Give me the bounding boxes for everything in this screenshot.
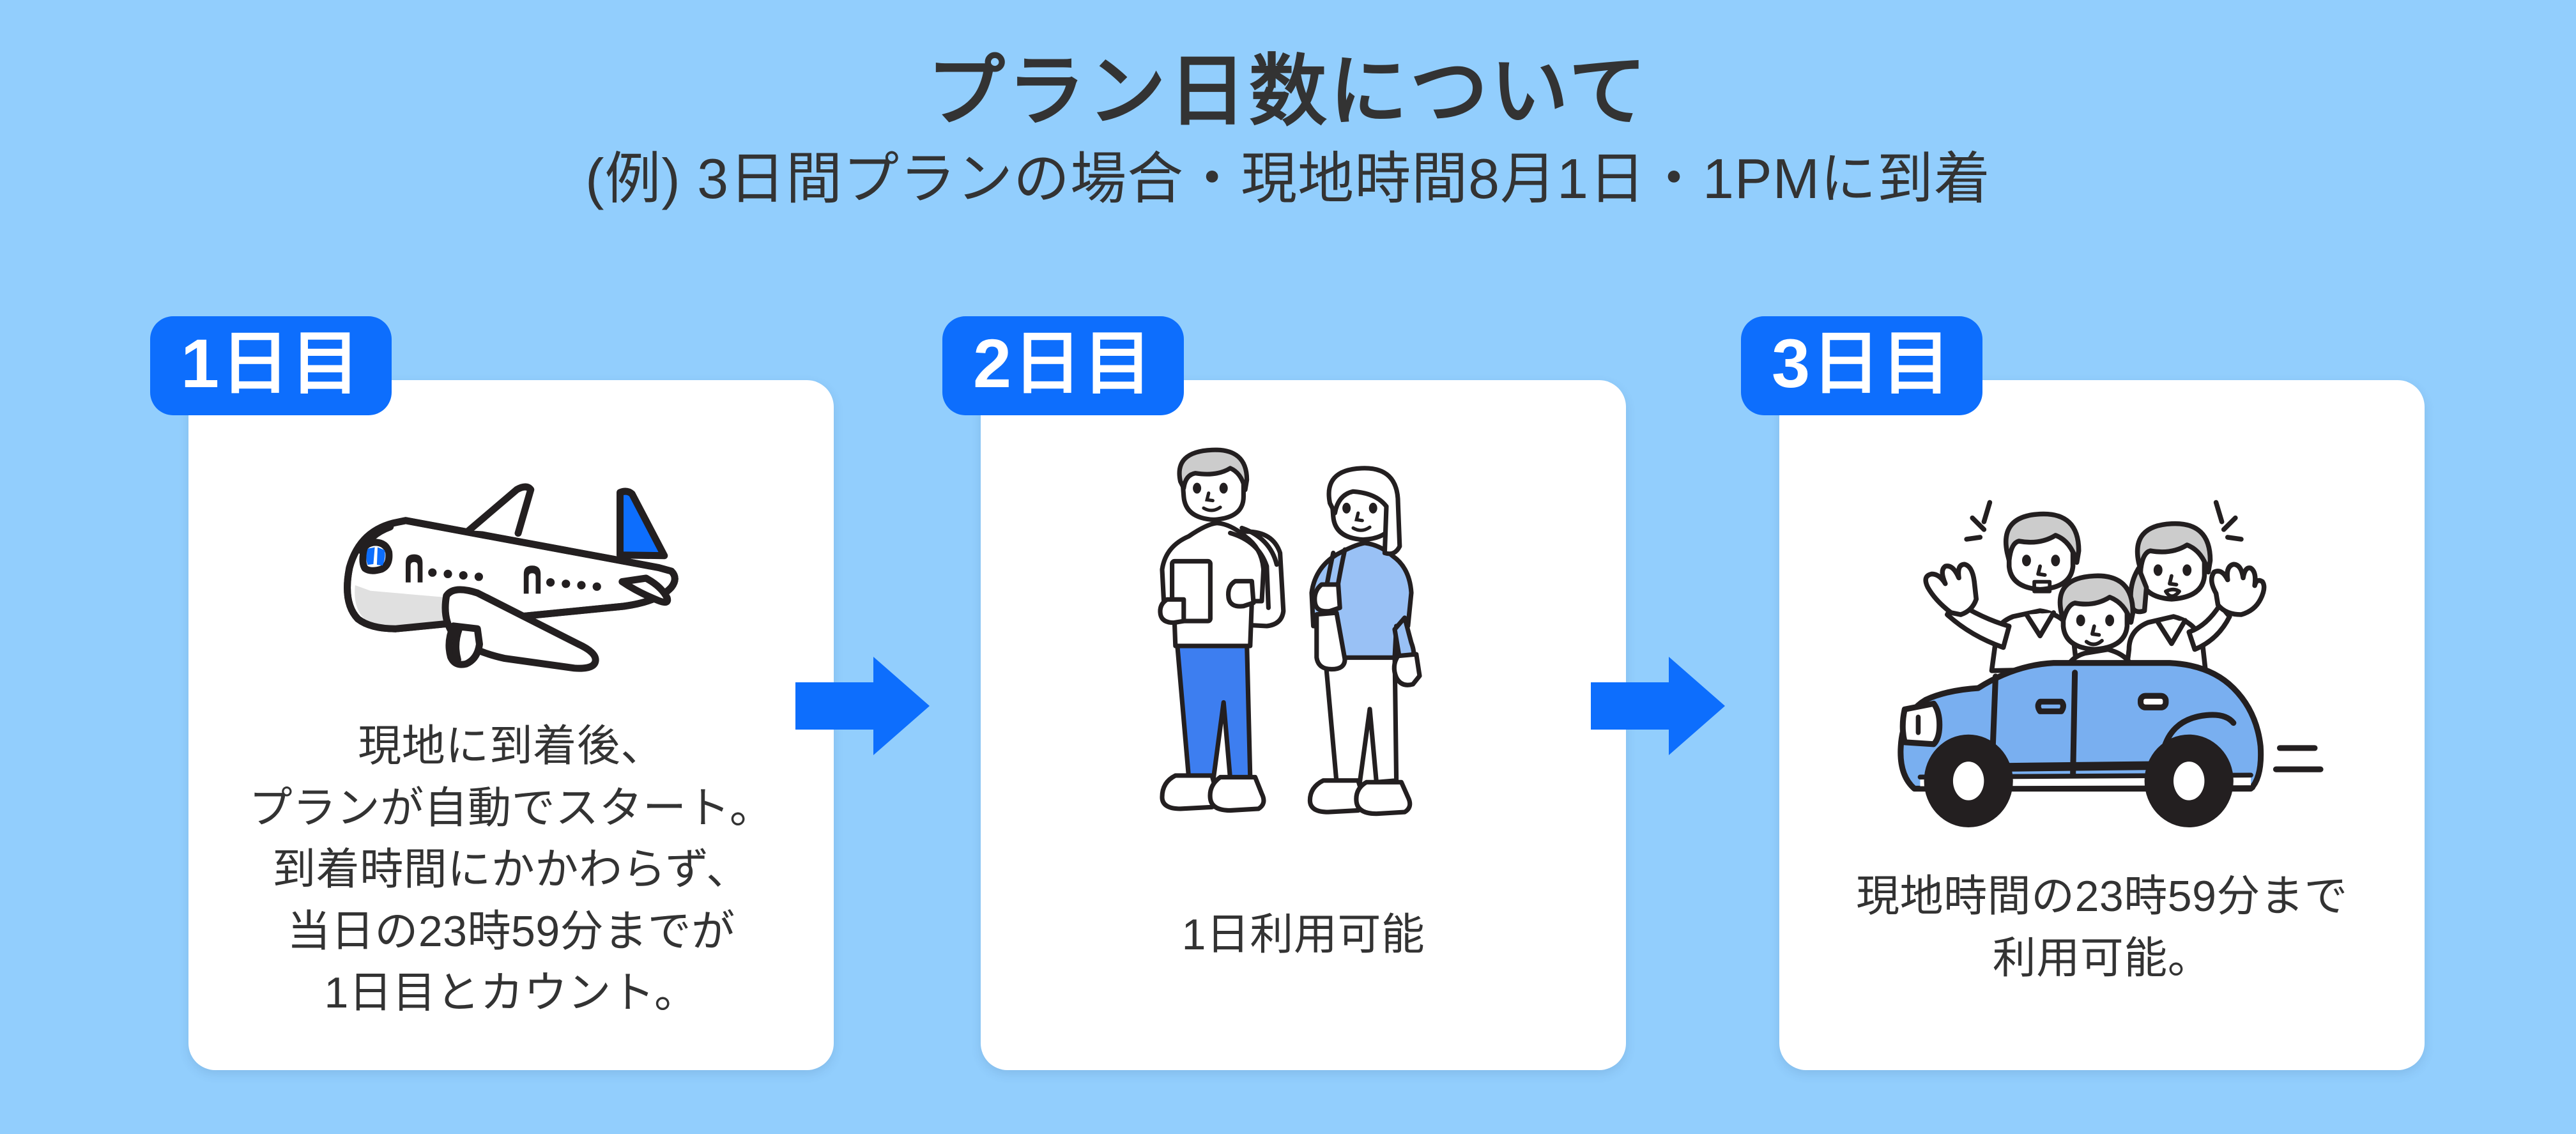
airplane-illustration <box>188 457 834 700</box>
day-3-body-line: 現地時間の23時59分まで <box>1779 866 2425 928</box>
day-1-body-line: 到着時間にかかわらず、 <box>188 839 834 901</box>
airplane-icon <box>262 473 760 684</box>
step-day-2: 1日利用可能 2日目 <box>981 380 1626 1070</box>
family-car-illustration <box>1779 457 2425 840</box>
arrow-right-icon <box>795 652 930 760</box>
page-title: プラン日数について <box>0 0 2576 134</box>
day-2-body: 1日利用可能 <box>981 904 1626 966</box>
day-1-badge: 1日目 <box>150 316 392 415</box>
arrow-step2-to-step3 <box>1591 652 1725 760</box>
day-3-card: 現地時間の23時59分まで 利用可能。 <box>1779 380 2425 1070</box>
arrow-step1-to-step2 <box>795 652 930 760</box>
family-car-icon <box>1850 470 2354 827</box>
day-3-body-line: 利用可能。 <box>1779 928 2425 990</box>
steps-row: 現地に到着後、 プランが自動でスタート。 到着時間にかかわらず、 当日の23時5… <box>0 380 2576 1083</box>
day-1-body-line: 現地に到着後、 <box>188 716 834 778</box>
two-travelers-icon <box>1137 444 1469 853</box>
day-1-card: 現地に到着後、 プランが自動でスタート。 到着時間にかかわらず、 当日の23時5… <box>188 380 834 1070</box>
day-2-badge: 2日目 <box>942 316 1184 415</box>
day-1-body-line: 1日目とカウント。 <box>188 962 834 1024</box>
day-1-body: 現地に到着後、 プランが自動でスタート。 到着時間にかかわらず、 当日の23時5… <box>188 716 834 1024</box>
day-2-body-line: 1日利用可能 <box>981 904 1626 966</box>
arrow-right-icon <box>1591 652 1725 760</box>
day-2-card: 1日利用可能 <box>981 380 1626 1070</box>
step-day-1: 現地に到着後、 プランが自動でスタート。 到着時間にかかわらず、 当日の23時5… <box>188 380 834 1070</box>
day-1-body-line: プランが自動でスタート。 <box>188 778 834 839</box>
day-3-body: 現地時間の23時59分まで 利用可能。 <box>1779 866 2425 989</box>
day-1-body-line: 当日の23時59分までが <box>188 901 834 963</box>
day-3-badge: 3日目 <box>1741 316 1982 415</box>
page-subtitle: (例) 3日間プランの場合・現地時間8月1日・1PMに到着 <box>0 134 2576 210</box>
step-day-3: 現地時間の23時59分まで 利用可能。 3日目 <box>1779 380 2425 1070</box>
two-travelers-illustration <box>981 425 1626 872</box>
header: プラン日数について (例) 3日間プランの場合・現地時間8月1日・1PMに到着 <box>0 0 2576 210</box>
